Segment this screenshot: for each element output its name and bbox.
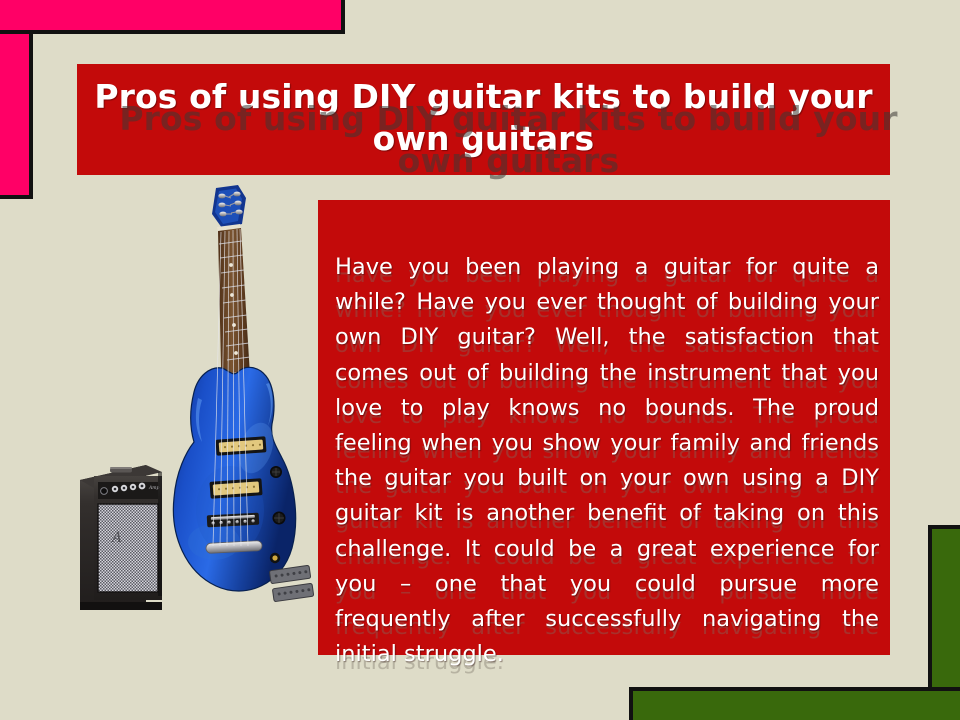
green-vertical-bar [928,525,960,691]
slide-canvas: Pros of using DIY guitar kits to build y… [0,0,960,720]
guitar-amplifier: Amp A [80,465,162,610]
svg-text:Amp: Amp [148,485,160,491]
title-ghost-text: Pros of using DIY guitar kits to build y… [102,98,915,182]
guitar-photo: Amp A [70,180,320,610]
body-paragraph: Have you been playing a guitar for quite… [335,250,879,672]
pink-horizontal-bar [0,0,345,34]
electric-guitar [173,185,295,591]
svg-text:A: A [110,530,122,546]
loose-humbucker-pickups [269,565,313,601]
green-horizontal-bar [629,687,960,720]
